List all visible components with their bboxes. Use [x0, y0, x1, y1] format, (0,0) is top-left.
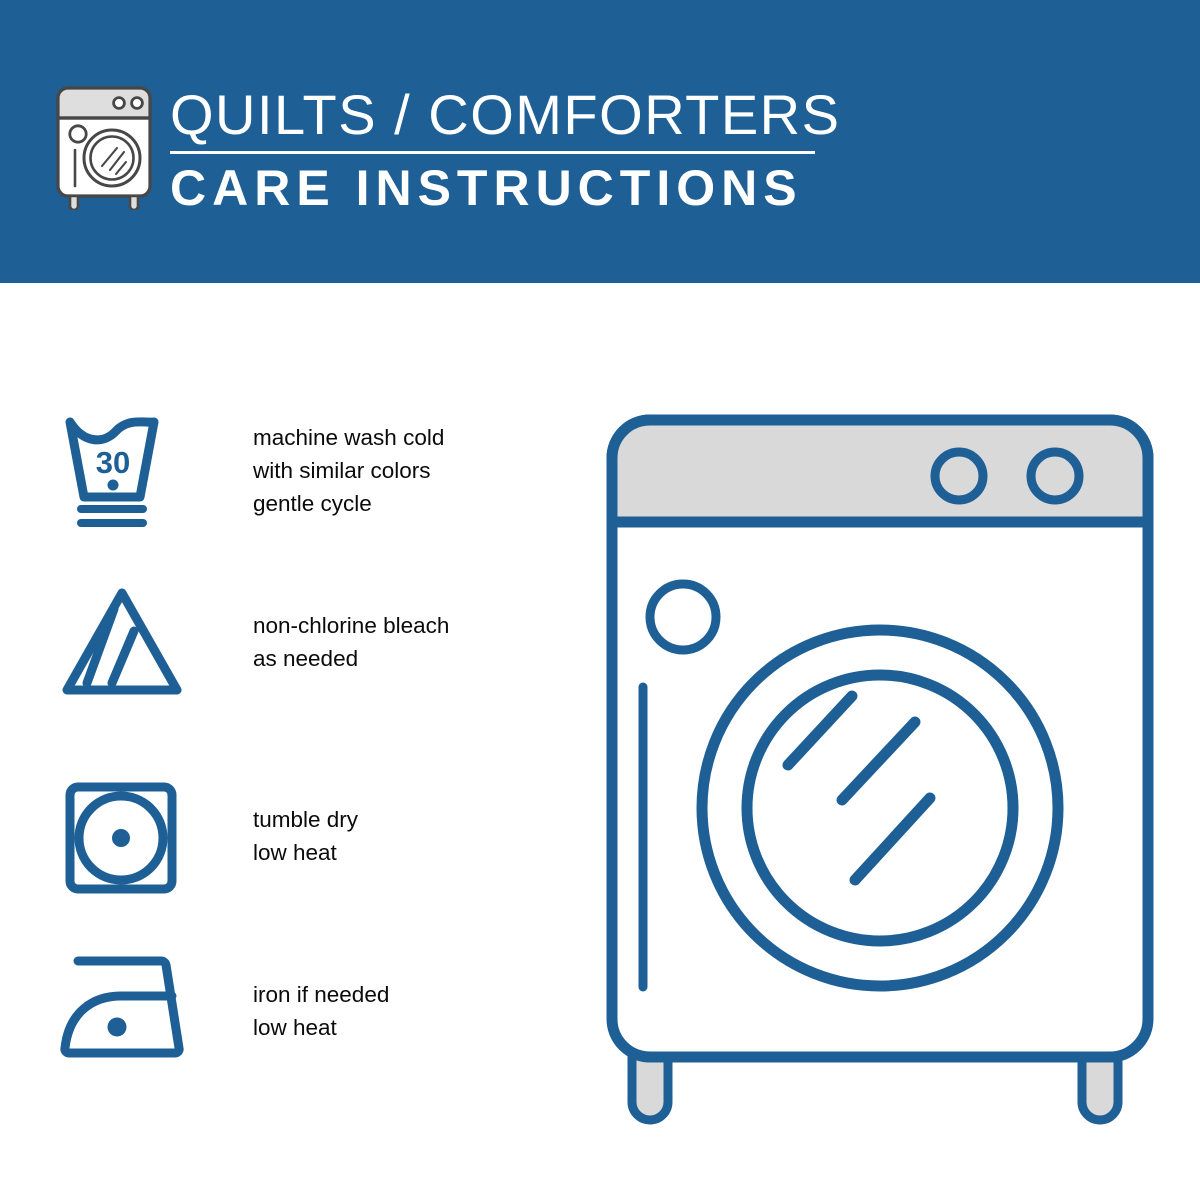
care-instruction-text: machine wash cold with similar colors ge…	[253, 421, 553, 520]
care-text-line: as needed	[253, 642, 553, 675]
care-text-line: non-chlorine bleach	[253, 609, 553, 642]
care-text-line: low heat	[253, 836, 553, 869]
non-chlorine-bleach-triangle-icon	[60, 583, 190, 708]
page-title-main: QUILTS / COMFORTERS	[170, 84, 820, 146]
page-title-sub: CARE INSTRUCTIONS	[170, 160, 820, 216]
care-instruction-text: iron if needed low heat	[253, 978, 553, 1044]
care-text-line: gentle cycle	[253, 487, 553, 520]
washing-machine-illustration	[590, 400, 1170, 1130]
care-instruction-text: tumble dry low heat	[253, 803, 553, 869]
header-banner: QUILTS / COMFORTERS CARE INSTRUCTIONS	[0, 0, 1200, 283]
washing-machine-logo-icon	[52, 82, 162, 210]
care-text-line: tumble dry	[253, 803, 553, 836]
care-text-line: machine wash cold	[253, 421, 553, 454]
care-text-line: low heat	[253, 1011, 553, 1044]
care-instruction-text: non-chlorine bleach as needed	[253, 609, 553, 675]
care-instruction-row: tumble dry low heat	[0, 773, 560, 923]
care-instruction-row: 30 machine wash cold with similar colors…	[0, 411, 560, 561]
header-title-block: QUILTS / COMFORTERS CARE INSTRUCTIONS	[170, 84, 820, 216]
wash-temperature-value: 30	[96, 445, 130, 480]
care-instruction-row: non-chlorine bleach as needed	[0, 583, 560, 733]
wash-tub-30-gentle-icon: 30	[60, 411, 190, 536]
tumble-dry-low-heat-icon	[60, 773, 190, 898]
care-text-line: iron if needed	[253, 978, 553, 1011]
care-instructions-list: 30 machine wash cold with similar colors…	[0, 283, 560, 1200]
iron-low-heat-icon	[60, 948, 190, 1073]
header-divider	[170, 151, 815, 154]
care-instruction-row: iron if needed low heat	[0, 948, 560, 1098]
care-text-line: with similar colors	[253, 454, 553, 487]
